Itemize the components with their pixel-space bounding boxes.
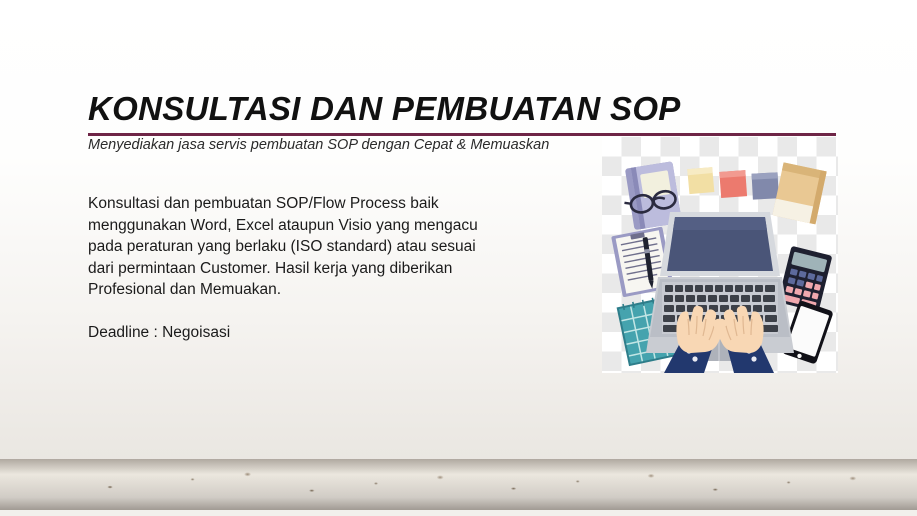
body-paragraph-2: Deadline : Negoisasi xyxy=(88,322,488,344)
sticky-note-purple-icon xyxy=(752,172,779,199)
page-subtitle: Menyediakan jasa servis pembuatan SOP de… xyxy=(88,137,549,153)
wood-shading-overlay xyxy=(0,459,917,510)
sticky-note-red-icon xyxy=(719,170,747,198)
wood-floor-band xyxy=(0,459,917,510)
page-title: KONSULTASI DAN PEMBUATAN SOP xyxy=(88,92,838,127)
title-block: KONSULTASI DAN PEMBUATAN SOP Menyediakan… xyxy=(88,92,838,127)
slide-bottom-strip xyxy=(0,510,917,516)
body-paragraph-1: Konsultasi dan pembuatan SOP/Flow Proces… xyxy=(88,193,488,301)
sticky-note-yellow-icon xyxy=(687,167,714,194)
book-tan-icon xyxy=(772,162,826,224)
presentation-slide: KONSULTASI DAN PEMBUATAN SOP Menyediakan… xyxy=(0,0,917,516)
title-divider-rule xyxy=(88,133,836,136)
body-text-block: Konsultasi dan pembuatan SOP/Flow Proces… xyxy=(88,193,488,344)
desk-illustration xyxy=(602,137,838,373)
